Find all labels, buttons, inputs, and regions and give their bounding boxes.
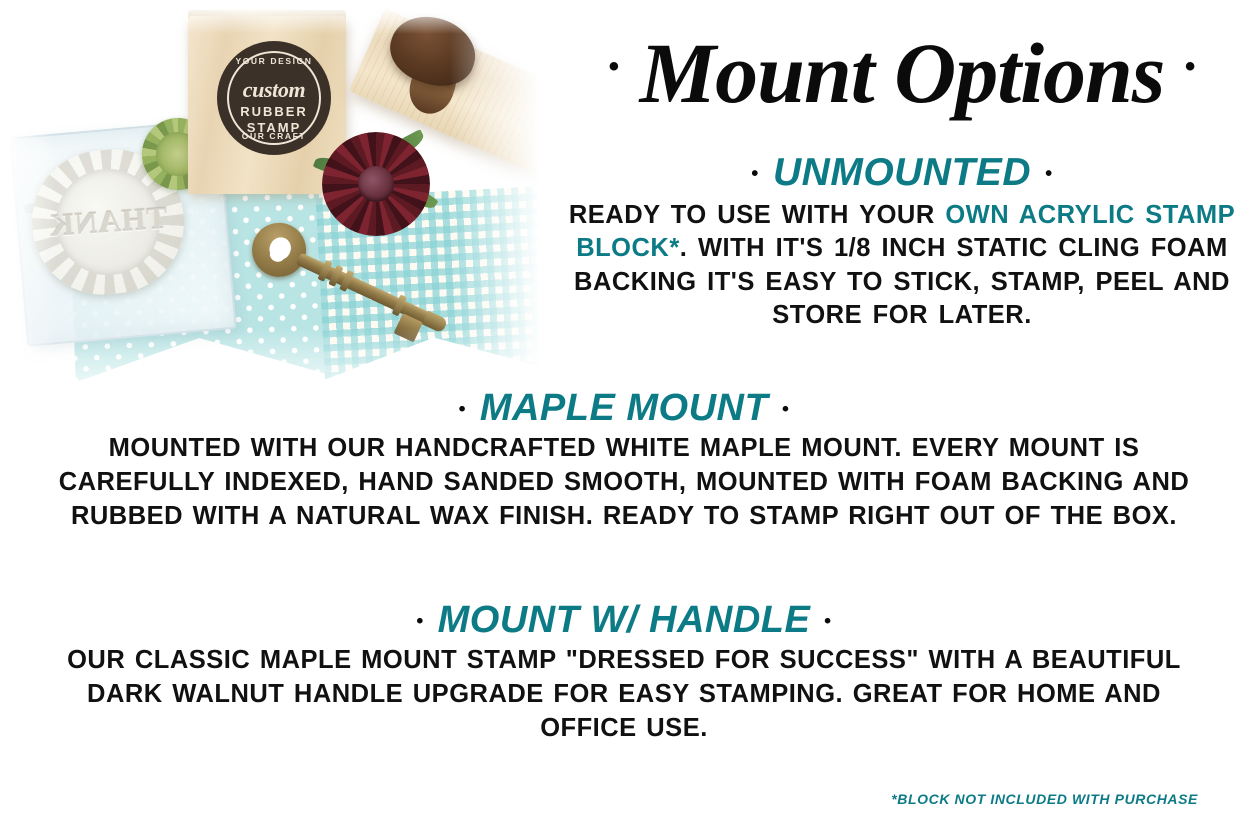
section-mount-with-handle: • MOUNT W/ HANDLE • OUR CLASSIC MAPLE MO…: [38, 600, 1210, 745]
stamp-logo: YOUR DESIGN custom RUBBER STAMP OUR CRAF…: [220, 44, 328, 152]
section-unmounted: • UNMOUNTED • READY TO USE WITH YOUR OWN…: [566, 152, 1238, 332]
bullet-icon: •: [609, 50, 620, 83]
section-heading-text: UNMOUNTED: [773, 151, 1031, 194]
section-body-unmounted: READY TO USE WITH YOUR OWN ACRYLIC STAMP…: [566, 199, 1238, 332]
body-text-pre: READY TO USE WITH YOUR: [569, 201, 945, 229]
key-bow-hole: [266, 234, 294, 263]
section-heading-unmounted: • UNMOUNTED •: [566, 152, 1238, 193]
dark-red-flower: [322, 132, 430, 236]
stamp-logo-script: custom: [220, 77, 328, 103]
product-photo-collage: THANK YOUR DESIGN custom RUBBER STAMP OU…: [0, 0, 560, 420]
mount-options-infographic: THANK YOUR DESIGN custom RUBBER STAMP OU…: [0, 0, 1244, 829]
section-heading-text: MOUNT W/ HANDLE: [438, 599, 811, 641]
section-body-mount-with-handle: OUR CLASSIC MAPLE MOUNT STAMP "DRESSED F…: [38, 644, 1210, 745]
page-title-text: Mount Options: [640, 25, 1165, 121]
bullet-icon: •: [414, 610, 427, 632]
page-title: • Mount Options •: [560, 30, 1244, 116]
stamp-logo-arc-top: YOUR DESIGN: [220, 56, 328, 66]
section-heading-mount-with-handle: • MOUNT W/ HANDLE •: [38, 600, 1210, 640]
stamp-logo-arc-bottom: OUR CRAFT: [220, 131, 328, 141]
flower-center: [358, 166, 395, 201]
footnote-disclaimer: *BLOCK NOT INCLUDED WITH PURCHASE: [891, 791, 1198, 807]
bullet-icon: •: [1185, 50, 1196, 83]
stamp-logo-line-1: RUBBER: [220, 104, 328, 119]
bullet-icon: •: [821, 610, 834, 632]
section-maple-mount: • MAPLE MOUNT • MOUNTED WITH OUR HANDCRA…: [38, 388, 1210, 533]
bullet-icon: •: [1042, 163, 1055, 185]
bullet-icon: •: [779, 398, 792, 420]
section-heading-maple-mount: • MAPLE MOUNT •: [38, 388, 1210, 428]
section-body-maple-mount: MOUNTED WITH OUR HANDCRAFTED WHITE MAPLE…: [38, 432, 1210, 533]
bullet-icon: •: [748, 163, 761, 185]
section-heading-text: MAPLE MOUNT: [480, 387, 768, 429]
bullet-icon: •: [456, 398, 469, 420]
